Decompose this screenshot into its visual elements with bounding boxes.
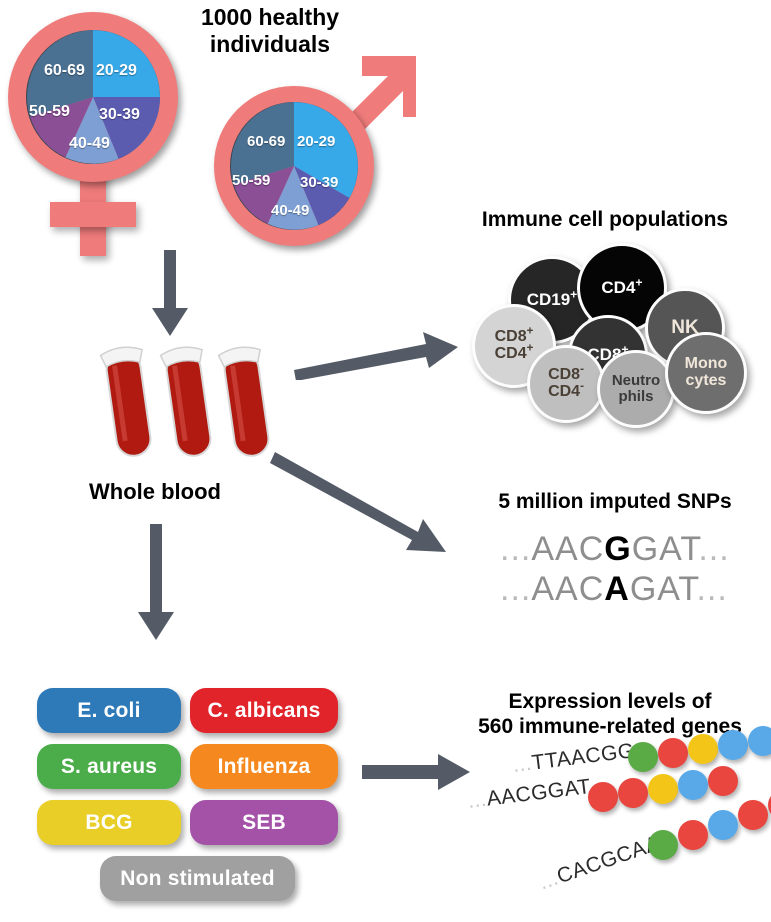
stimulus-seb-label: SEB xyxy=(242,811,286,835)
arrow-blood-to-immune xyxy=(290,330,460,380)
male-pie-label-60-69: 60-69 xyxy=(247,133,285,150)
snp-1-suffix: ... xyxy=(698,530,729,568)
blood-tubes-svg xyxy=(95,330,285,480)
strand-middle-bead-2 xyxy=(618,778,648,808)
male-pie-label-20-29: 20-29 xyxy=(297,133,335,150)
immune-cell-monocytes-line2: cytes xyxy=(686,373,727,390)
strand-bottom-bead-3 xyxy=(708,810,738,840)
strand-middle-bead-4 xyxy=(678,770,708,800)
immune-heading: Immune cell populations xyxy=(450,208,760,233)
stimulus-c-albicans[interactable]: C. albicans xyxy=(190,688,338,733)
strand-middle-bead-3 xyxy=(648,774,678,804)
male-pie-label-50-59: 50-59 xyxy=(232,172,270,189)
female-pie-label-50-59: 50-59 xyxy=(29,103,70,121)
stimulus-e-coli[interactable]: E. coli xyxy=(37,688,181,733)
strand-middle-text: ...AACGGAT xyxy=(467,775,593,814)
strand-bottom-bead-2 xyxy=(678,820,708,850)
female-pie-label-40-49: 40-49 xyxy=(69,135,110,153)
stimulus-non-stimulated[interactable]: Non stimulated xyxy=(100,856,295,901)
expression-heading: Expression levels of 560 immune-related … xyxy=(455,690,765,740)
figure-canvas: 1000 healthy individuals 20-29 30-39 40-… xyxy=(0,0,771,922)
whole-blood-label: Whole blood xyxy=(45,479,265,505)
immune-cell-monocytes: Mono cytes xyxy=(665,332,747,414)
arrow-blood-to-stimuli xyxy=(128,524,188,644)
immune-cell-cd8-cd4-double-negative: CD8- CD4- xyxy=(527,345,605,423)
strand-top-bead-5 xyxy=(748,726,771,756)
strand-middle-bead-1 xyxy=(588,782,618,812)
snp-2-suffix: ... xyxy=(696,570,727,608)
arrow-stimuli-to-expression xyxy=(362,752,472,792)
male-age-pie: 20-29 30-39 40-49 50-59 60-69 xyxy=(230,102,358,230)
immune-cell-dn-line2: CD4- xyxy=(548,384,584,401)
strand-bottom-bases: CACGCAA xyxy=(554,832,663,889)
female-pie-label-20-29: 20-29 xyxy=(96,62,137,80)
expression-heading-line1: Expression levels of xyxy=(455,690,765,715)
immune-cell-dp-line2: CD4+ xyxy=(495,346,534,363)
stimulus-s-aureus[interactable]: S. aureus xyxy=(37,744,181,789)
snp-1-right: GAT xyxy=(632,530,699,568)
strand-middle-bases: AACGGAT xyxy=(485,775,592,811)
stimulus-bcg-label: BCG xyxy=(85,811,132,835)
strand-top-bead-3 xyxy=(688,734,718,764)
female-symbol-crossbar xyxy=(50,202,136,227)
strand-middle-bead-5 xyxy=(708,766,738,796)
blood-tubes-group xyxy=(95,330,285,480)
snp-sequence-1: ...AACGGAT... xyxy=(500,530,730,569)
stimulus-e-coli-label: E. coli xyxy=(77,699,140,723)
cohort-title-line1: 1000 healthy xyxy=(170,4,370,31)
immune-cell-cd19-positive-label: CD19+ xyxy=(527,291,578,309)
snp-2-variant: A xyxy=(604,570,630,608)
strand-top-bases: TTAACGG xyxy=(530,739,635,774)
stimulus-influenza[interactable]: Influenza xyxy=(190,744,338,789)
stimulus-seb[interactable]: SEB xyxy=(190,800,338,845)
immune-cell-neutrophils-line1: Neutro xyxy=(612,373,660,389)
snp-2-left: AAC xyxy=(531,570,604,608)
snp-1-variant: G xyxy=(604,530,631,568)
snp-1-prefix: ... xyxy=(500,530,531,568)
strand-bottom-bead-4 xyxy=(738,800,768,830)
snp-2-right: GAT xyxy=(630,570,697,608)
strand-top-text: ...TTAACGG xyxy=(512,739,636,778)
female-pie-label-30-39: 30-39 xyxy=(99,106,140,124)
arrow-cohort-to-blood xyxy=(140,250,200,340)
stimulus-s-aureus-label: S. aureus xyxy=(61,755,157,779)
snps-heading: 5 million imputed SNPs xyxy=(470,490,760,515)
strand-top-bead-1 xyxy=(628,742,658,772)
stimulus-bcg[interactable]: BCG xyxy=(37,800,181,845)
male-pie-label-30-39: 30-39 xyxy=(300,174,338,191)
immune-cell-monocytes-line1: Mono xyxy=(685,356,728,373)
arrow-blood-to-snps xyxy=(270,450,460,560)
female-age-pie: 20-29 30-39 40-49 50-59 60-69 xyxy=(26,30,160,164)
immune-cell-neutrophils-line2: phils xyxy=(618,389,653,405)
strand-bottom-text: ...CACGCAA xyxy=(536,832,663,896)
snp-sequence-2: ...AACAGAT... xyxy=(500,570,728,609)
immune-cell-cd4-positive-label: CD4+ xyxy=(601,279,642,297)
strand-top-bead-2 xyxy=(658,738,688,768)
stimulus-non-stimulated-label: Non stimulated xyxy=(120,867,274,891)
immune-cell-dn-line1: CD8- xyxy=(548,367,584,384)
strand-bottom-bead-1 xyxy=(648,830,678,860)
expression-heading-line2: 560 immune-related genes xyxy=(455,715,765,740)
snp-1-left: AAC xyxy=(531,530,604,568)
stimulus-influenza-label: Influenza xyxy=(218,755,311,779)
immune-cell-neutrophils: Neutro phils xyxy=(597,350,675,428)
stimulus-c-albicans-label: C. albicans xyxy=(207,699,320,723)
strand-top-bead-4 xyxy=(718,730,748,760)
snp-2-prefix: ... xyxy=(500,570,531,608)
female-pie-label-60-69: 60-69 xyxy=(44,62,85,80)
male-pie-label-40-49: 40-49 xyxy=(271,202,309,219)
